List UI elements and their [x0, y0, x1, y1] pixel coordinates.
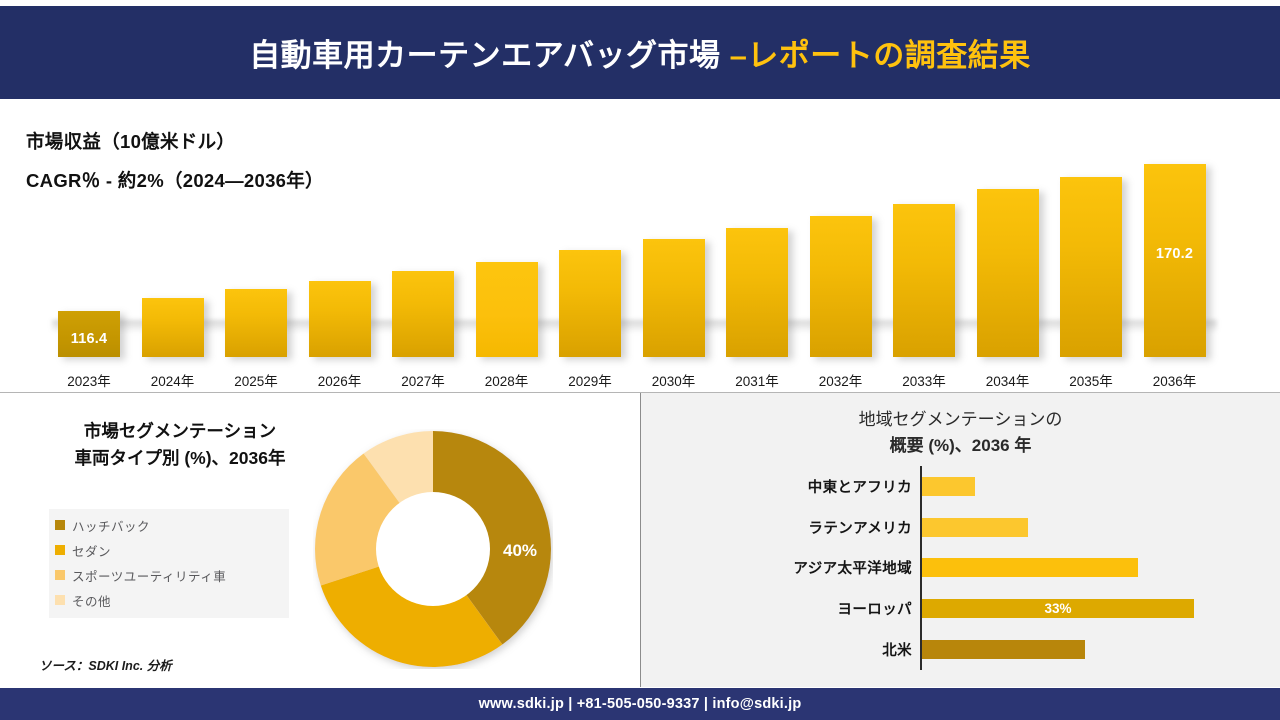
legend-swatch-icon	[55, 520, 65, 530]
donut-slice-label: 40%	[503, 541, 537, 561]
footer-banner: www.sdki.jp | +81-505-050-9337 | info@sd…	[0, 688, 1280, 720]
bar-x-label: 2030年	[652, 370, 696, 390]
bar-x-label: 2036年	[1153, 370, 1197, 390]
legend-item[interactable]: セダン	[55, 542, 283, 558]
bar-shape	[893, 204, 955, 357]
bar-x-label: 2025年	[234, 370, 278, 390]
bar-column: 2032年	[804, 216, 878, 390]
bar-column: 2029年	[553, 250, 627, 390]
donut-chart: 40%	[313, 429, 553, 669]
source-note: ソース：SDKI Inc. 分析	[39, 655, 172, 674]
regional-bar-label: 北米	[641, 639, 912, 660]
donut-hole	[376, 492, 490, 606]
bar-column: 2027年	[386, 271, 460, 390]
bar-shape: 170.2	[1144, 164, 1206, 357]
legend-swatch-icon	[55, 570, 65, 580]
legend-item-label: ハッチバック	[72, 516, 150, 535]
legend-item-label: セダン	[72, 541, 111, 560]
bar-value-label: 116.4	[71, 331, 108, 347]
regional-bar	[922, 477, 975, 496]
bar-column: 2033年	[887, 204, 961, 390]
regional-bar: 33%	[922, 599, 1194, 618]
donut-title: 市場セグメンテーション 車両タイプ別 (%)、2036年	[35, 418, 325, 472]
legend-swatch-icon	[55, 545, 65, 555]
bar-column: 116.42023年	[52, 311, 126, 390]
bar-x-label: 2026年	[318, 370, 362, 390]
bar-shape	[810, 216, 872, 357]
bar-x-label: 2032年	[819, 370, 863, 390]
bar-shape	[142, 298, 204, 357]
bar-series-area: 116.42023年2024年2025年2026年2027年2028年2029年…	[52, 115, 1232, 390]
bar-shape	[643, 239, 705, 357]
legend-item[interactable]: スポーツユーティリティ車	[55, 567, 283, 583]
page-title-main: 自動車用カーテンエアバッグ市場	[249, 38, 729, 73]
bar-x-label: 2028年	[485, 370, 529, 390]
bar-shape	[1060, 177, 1122, 357]
regional-bar	[922, 640, 1085, 659]
bar-column: 2028年	[470, 262, 544, 390]
legend-item[interactable]: その他	[55, 592, 283, 608]
bar-column: 170.22036年	[1138, 164, 1212, 390]
bar-shape	[392, 271, 454, 357]
regional-bar-label: ラテンアメリカ	[641, 517, 912, 538]
bar-shape	[476, 262, 538, 357]
bar-x-label: 2034年	[986, 370, 1030, 390]
bar-value-label: 170.2	[1156, 246, 1193, 262]
bar-shape	[309, 281, 371, 357]
bar-x-label: 2035年	[1069, 370, 1113, 390]
regional-bar-value: 33%	[1044, 601, 1071, 616]
regional-bar-row: 北米	[641, 629, 1280, 670]
donut-title-line2: 車両タイプ別 (%)、2036年	[35, 445, 325, 472]
bar-shape	[225, 289, 287, 357]
regional-bar	[922, 518, 1028, 537]
regional-bar-row: アジア太平洋地域	[641, 548, 1280, 589]
bar-x-label: 2023年	[67, 370, 111, 390]
legend-item[interactable]: ハッチバック	[55, 517, 283, 533]
bar-x-label: 2027年	[401, 370, 445, 390]
legend-item-label: その他	[72, 591, 111, 610]
bar-x-label: 2033年	[902, 370, 946, 390]
bar-x-label: 2031年	[735, 370, 779, 390]
regional-bar-row: ラテンアメリカ	[641, 507, 1280, 548]
bar-column: 2024年	[136, 298, 210, 390]
header-banner: 自動車用カーテンエアバッグ市場 –レポートの調査結果	[0, 6, 1280, 99]
segmentation-panel: 市場セグメンテーション 車両タイプ別 (%)、2036年 ハッチバックセダンスポ…	[1, 393, 640, 687]
page-title-accent: –レポートの調査結果	[730, 38, 1031, 73]
regional-bar-rows: 中東とアフリカラテンアメリカアジア太平洋地域ヨーロッパ33%北米	[641, 466, 1280, 670]
legend-item-label: スポーツユーティリティ車	[72, 566, 226, 585]
regional-title-line2: 概要 (%)、2036 年	[890, 436, 1032, 455]
regional-bar-label: ヨーロッパ	[641, 598, 912, 619]
regional-bar-label: アジア太平洋地域	[641, 557, 912, 578]
market-revenue-chart: 市場収益（10億米ドル） CAGR％ - 約2%（2024―2036年） 116…	[0, 99, 1280, 392]
regional-panel: 地域セグメンテーションの 概要 (%)、2036 年 中東とアフリカラテンアメリ…	[641, 393, 1280, 687]
regional-bar-label: 中東とアフリカ	[641, 476, 912, 497]
donut-legend: ハッチバックセダンスポーツユーティリティ車その他	[49, 509, 289, 618]
bar-column: 2034年	[971, 189, 1045, 390]
regional-title: 地域セグメンテーションの 概要 (%)、2036 年	[641, 407, 1280, 460]
bar-column: 2030年	[637, 239, 711, 390]
regional-bar-row: ヨーロッパ33%	[641, 588, 1280, 629]
bar-column: 2035年	[1054, 177, 1128, 390]
regional-bar-row: 中東とアフリカ	[641, 466, 1280, 507]
infographic-page: 自動車用カーテンエアバッグ市場 –レポートの調査結果 市場収益（10億米ドル） …	[0, 0, 1280, 720]
bar-shape	[559, 250, 621, 357]
bar-column: 2031年	[720, 228, 794, 390]
page-title: 自動車用カーテンエアバッグ市場 –レポートの調査結果	[249, 30, 1031, 75]
bar-column: 2026年	[303, 281, 377, 390]
regional-title-line1: 地域セグメンテーションの	[641, 407, 1280, 433]
donut-title-line1: 市場セグメンテーション	[35, 418, 325, 445]
regional-bar	[922, 558, 1138, 577]
bar-shape	[977, 189, 1039, 357]
bar-shape	[726, 228, 788, 357]
bar-x-label: 2024年	[151, 370, 195, 390]
footer-contact: www.sdki.jp | +81-505-050-9337 | info@sd…	[479, 696, 802, 712]
bar-shape: 116.4	[58, 311, 120, 357]
bar-x-label: 2029年	[568, 370, 612, 390]
bar-column: 2025年	[219, 289, 293, 390]
legend-swatch-icon	[55, 595, 65, 605]
